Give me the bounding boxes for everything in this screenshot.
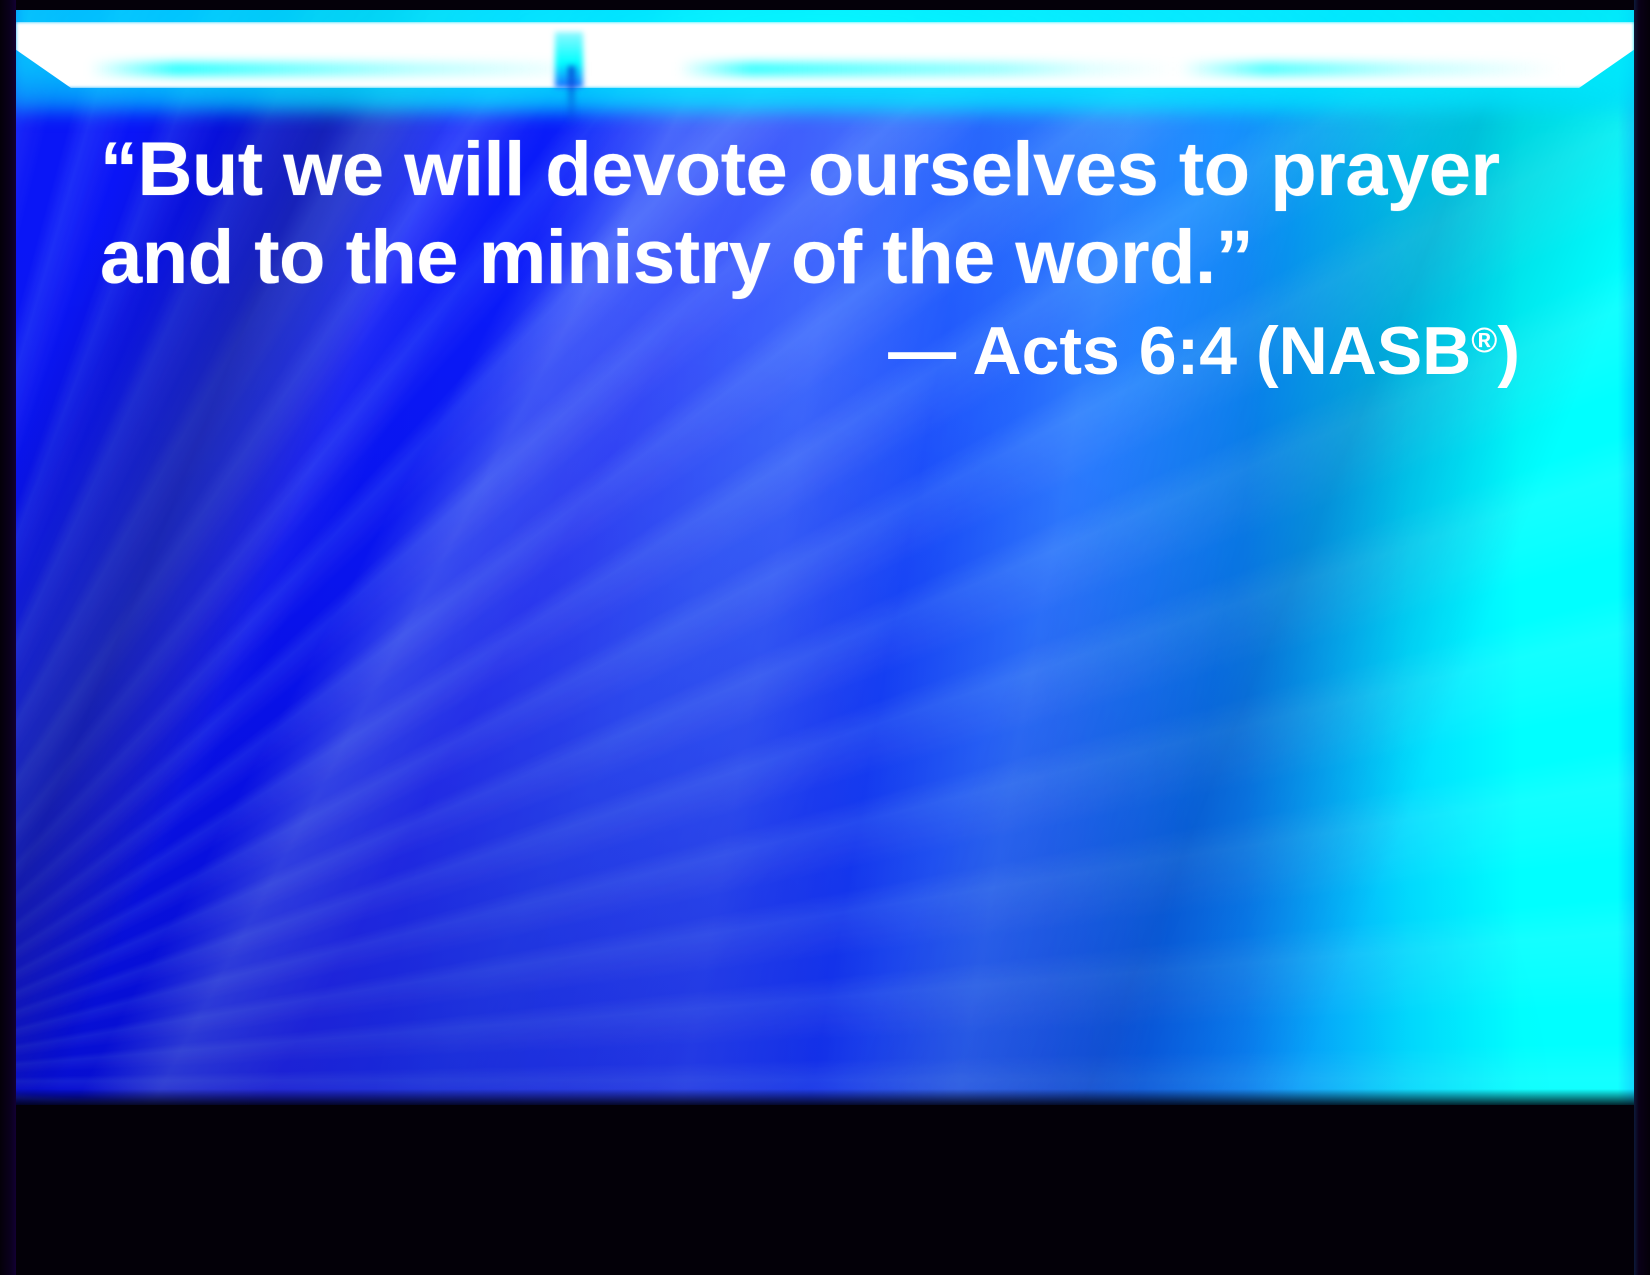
frame-edge-right [1634,0,1650,1275]
banner-cyan-underline [89,62,1561,76]
attribution-em-dash: — [888,313,956,389]
banner-vertical-seam [568,66,575,126]
top-glow-banner [16,10,1634,106]
registered-trademark-icon: ® [1471,321,1497,360]
verse-attribution: — Acts 6:4 (NASB®) [100,302,1520,390]
frame-edge-top [0,0,1650,10]
attribution-translation-close-paren: ) [1497,313,1520,389]
banner-white-bar [16,22,1634,88]
bottom-fade [16,1089,1634,1105]
verse-text-block: “But we will devote ourselves to prayer … [100,126,1520,302]
bottom-letterbox [16,1105,1634,1190]
slide-frame: “But we will devote ourselves to prayer … [0,0,1650,1275]
slide-canvas: “But we will devote ourselves to prayer … [16,10,1634,1190]
attribution-spacer-2 [1237,313,1256,389]
attribution-translation-open-paren: (NASB [1256,313,1471,389]
attribution-reference: Acts 6:4 [972,313,1237,389]
verse-line-1: “But we will devote ourselves to prayer [100,126,1520,214]
frame-edge-left [0,0,16,1275]
verse-line-2: and to the ministry of the word.” [100,214,1520,302]
attribution-spacer-1 [956,313,972,389]
